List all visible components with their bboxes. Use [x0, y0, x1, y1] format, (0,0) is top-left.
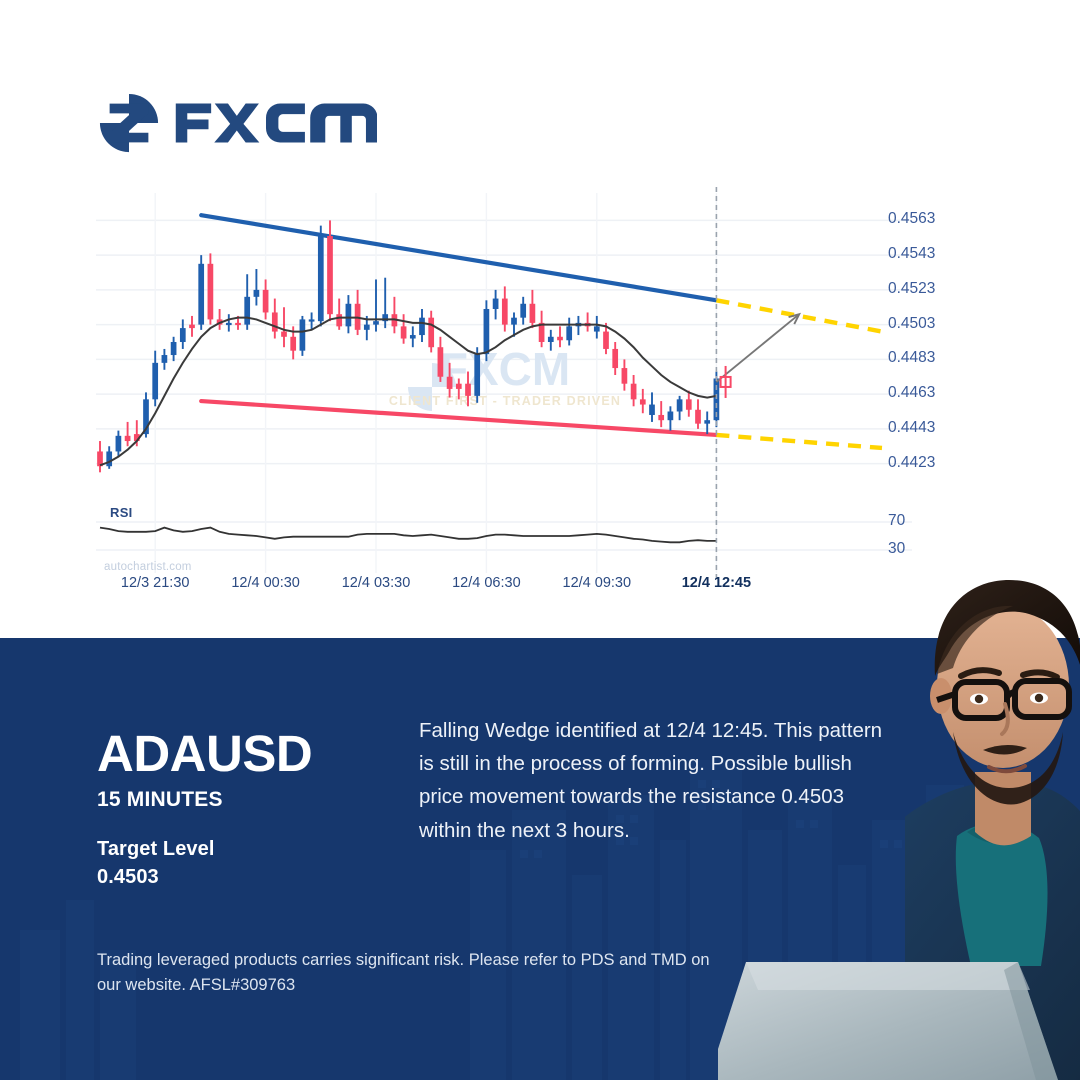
target-level-label: Target Level	[97, 838, 407, 861]
fxcm-z-logo-icon	[98, 92, 160, 154]
price-axis-labels: 0.45630.45430.45230.45030.44830.44630.44…	[888, 185, 1008, 565]
price-axis-tick: 0.4563	[888, 210, 935, 228]
risk-disclaimer: Trading leveraged products carries signi…	[97, 948, 717, 998]
forecast-arrow-icon	[716, 314, 799, 398]
price-axis-tick: 0.4543	[888, 245, 935, 263]
svg-text:CLIENT FIRST - TRADER DRIVEN: CLIENT FIRST - TRADER DRIVEN	[389, 394, 621, 408]
time-axis-labels: 12/3 21:3012/4 00:3012/4 03:3012/4 06:30…	[0, 575, 1080, 609]
price-axis-tick: 0.4463	[888, 384, 935, 402]
rsi-indicator-line	[100, 528, 716, 543]
price-axis-tick: 0.4483	[888, 349, 935, 367]
time-axis-tick: 12/4 06:30	[452, 575, 521, 591]
projection-lines	[716, 300, 882, 448]
instrument-symbol: ADAUSD	[97, 728, 407, 779]
chart-fxcm-watermark: FXCMCLIENT FIRST - TRADER DRIVEN	[389, 343, 621, 411]
chart-panel: FXCMCLIENT FIRST - TRADER DRIVEN 0.45630…	[0, 0, 1080, 638]
instrument-block: ADAUSD 15 MINUTES Target Level 0.4503	[97, 728, 407, 889]
price-axis-tick: 0.4423	[888, 454, 935, 472]
candlestick-series	[97, 220, 719, 472]
autochartist-watermark: autochartist.com	[104, 561, 192, 573]
info-panel: ADAUSD 15 MINUTES Target Level 0.4503 Fa…	[0, 638, 1080, 1080]
time-axis-tick: 12/4 09:30	[563, 575, 632, 591]
target-level-value: 0.4503	[97, 866, 407, 889]
rsi-label: RSI	[110, 505, 133, 520]
instrument-timeframe: 15 MINUTES	[97, 788, 407, 812]
rsi-axis-tick: 70	[888, 512, 905, 530]
moving-average-line	[100, 318, 716, 466]
time-axis-tick: 12/4 03:30	[342, 575, 411, 591]
fxcm-wordmark-icon	[174, 100, 377, 146]
pattern-description: Falling Wedge identified at 12/4 12:45. …	[419, 714, 899, 847]
time-axis-tick: 12/3 21:30	[121, 575, 190, 591]
price-axis-tick: 0.4523	[888, 280, 935, 298]
time-axis-tick: 12/4 12:45	[682, 575, 751, 591]
rsi-axis-tick: 30	[888, 540, 905, 558]
price-axis-tick: 0.4503	[888, 315, 935, 333]
price-axis-tick: 0.4443	[888, 419, 935, 437]
time-axis-tick: 12/4 00:30	[231, 575, 300, 591]
fxcm-logo	[98, 92, 377, 154]
